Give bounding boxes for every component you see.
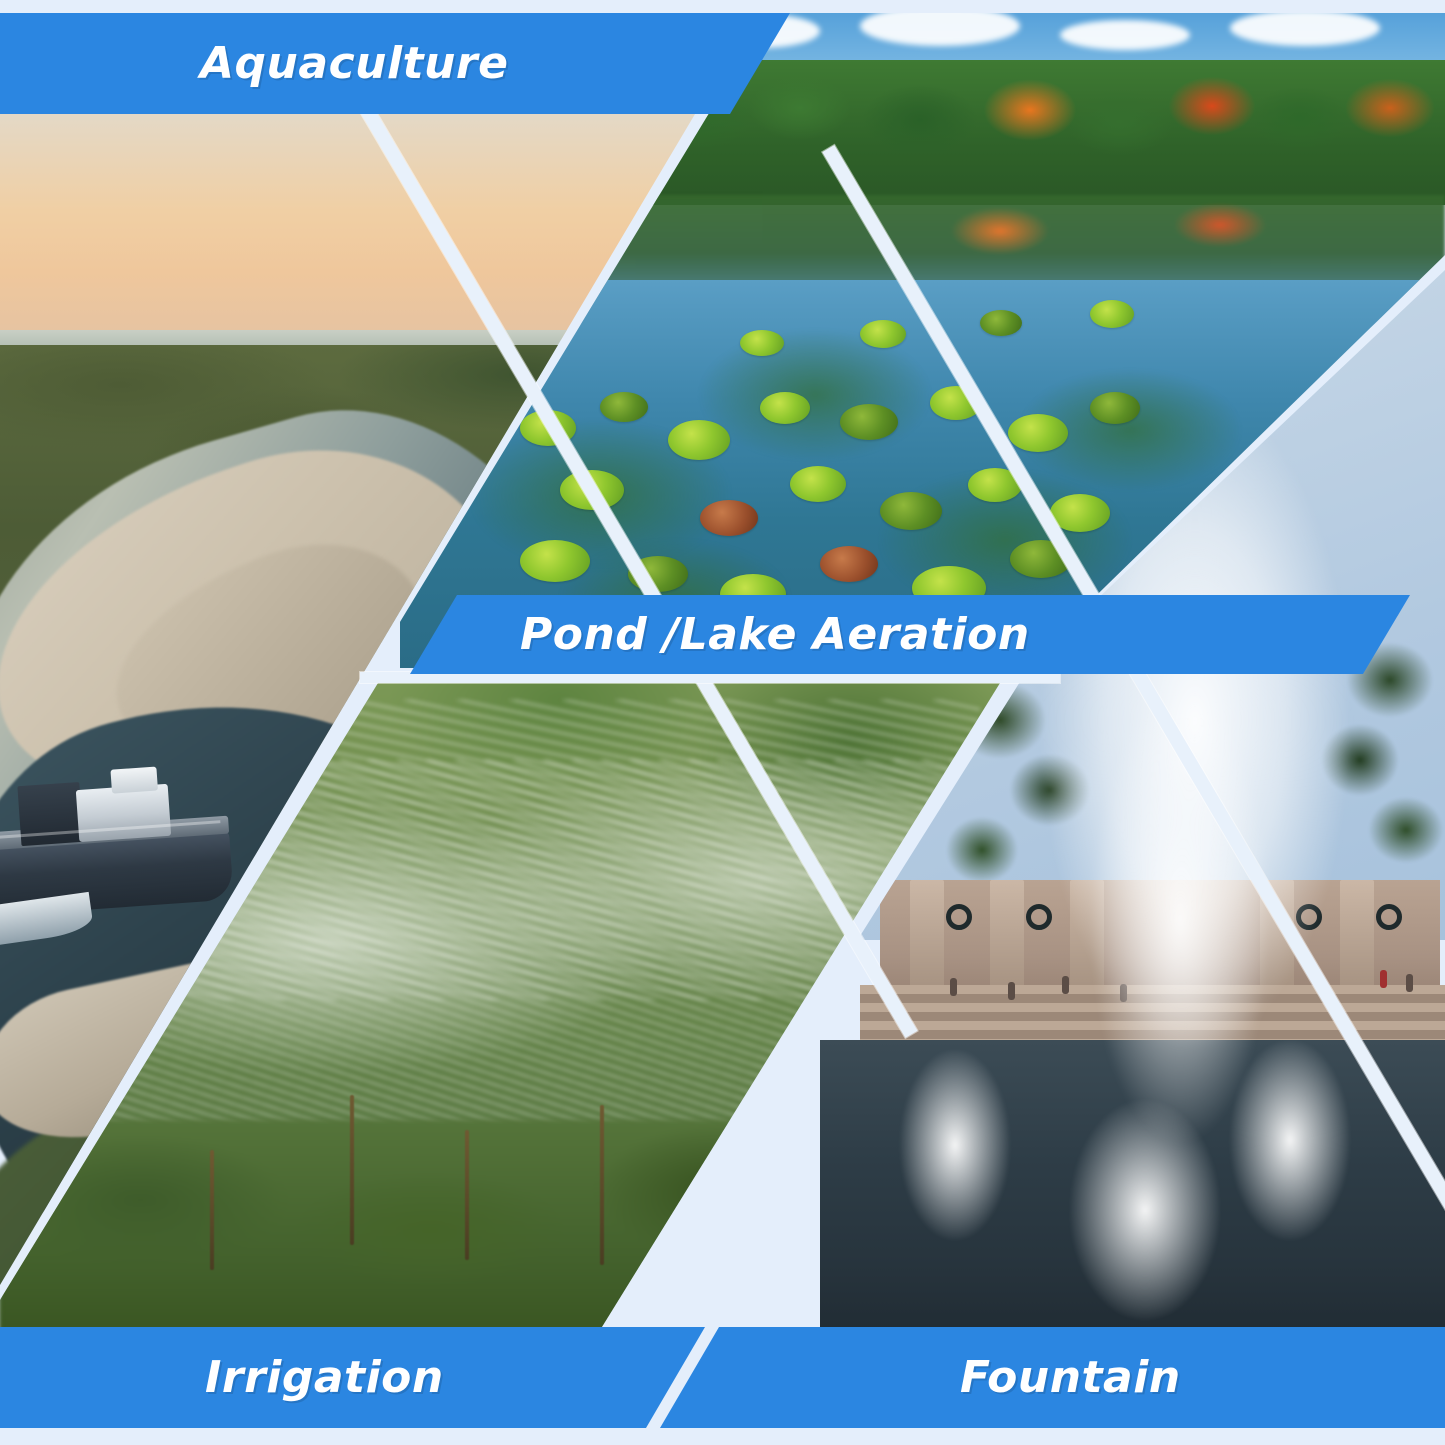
bottom-frame-band	[0, 1428, 1445, 1445]
lily-pad	[840, 404, 898, 440]
lily-pad	[820, 546, 878, 582]
label-banner-fountain: Fountain	[660, 1327, 1445, 1428]
visitor	[950, 978, 957, 996]
submerged-weed	[700, 330, 930, 460]
lily-pad	[860, 320, 906, 348]
plant-stem	[465, 1130, 469, 1260]
lily-pad	[880, 492, 942, 530]
lily-pad	[700, 500, 758, 536]
lily-pad	[600, 392, 648, 422]
lily-pad	[790, 466, 846, 502]
cloud	[1230, 10, 1380, 46]
lily-pad	[1090, 392, 1140, 424]
lily-pad	[1008, 414, 1068, 452]
label-banner-irrigation: Irrigation	[0, 1327, 705, 1428]
lily-pad	[980, 310, 1022, 336]
label-fountain: Fountain	[960, 1352, 1181, 1403]
label-irrigation: Irrigation	[205, 1352, 444, 1403]
lily-pad	[1090, 300, 1134, 328]
plant-stem	[600, 1105, 604, 1265]
lily-pad	[740, 330, 784, 356]
label-aquaculture: Aquaculture	[200, 38, 508, 89]
label-banner-pond-lake: Pond /Lake Aeration	[410, 595, 1410, 674]
collage-canvas: Aquaculture Pond /Lake Aeration Irrigati…	[0, 0, 1445, 1445]
lily-pad	[760, 392, 810, 424]
label-banner-aquaculture: Aquaculture	[0, 13, 790, 114]
plant-stem	[210, 1150, 214, 1270]
lily-pad	[520, 540, 590, 582]
plant-stem	[350, 1095, 354, 1245]
label-pond-lake-aeration: Pond /Lake Aeration	[520, 609, 1030, 660]
stone-pillar	[910, 880, 944, 996]
top-frame-band	[0, 0, 1445, 13]
lily-pad	[668, 420, 730, 460]
ship-bridge	[110, 767, 158, 794]
cloud	[1060, 20, 1190, 50]
bronze-wreath	[946, 904, 972, 930]
